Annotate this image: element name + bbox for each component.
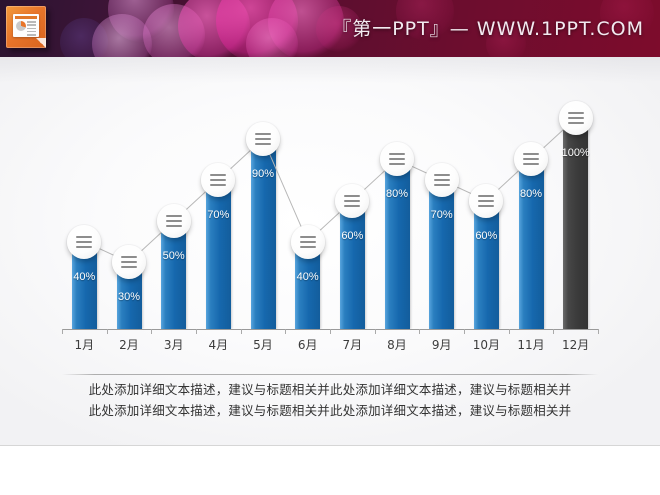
- x-label-9月: 9月: [419, 336, 465, 353]
- slide-body: 40%30%50%70%90%40%60%80%70%60%80%100% 1月…: [0, 57, 660, 445]
- trend-connector-line: [62, 113, 598, 329]
- hamburger-menu-icon: [568, 112, 584, 127]
- slide: 『第一PPT』— WWW.1PPT.COM 40%30%50%70%90%40%…: [0, 0, 660, 495]
- hamburger-menu-icon: [434, 174, 450, 189]
- header-title: 『第一PPT』— WWW.1PPT.COM: [332, 14, 644, 41]
- x-label-11月: 11月: [508, 336, 554, 353]
- footer: 第一PPT HTTP://WWW.1PPT.COM: [0, 445, 660, 495]
- x-label-5月: 5月: [240, 336, 286, 353]
- marker-hamburger-menu-icon[interactable]: [67, 225, 101, 259]
- chart-plot-area: 40%30%50%70%90%40%60%80%70%60%80%100%: [62, 113, 598, 329]
- hamburger-menu-icon: [478, 195, 494, 210]
- x-label-6月: 6月: [285, 336, 331, 353]
- x-axis-ticks: [62, 329, 599, 334]
- x-label-8月: 8月: [374, 336, 420, 353]
- description-block: 此处添加详细文本描述，建议与标题相关并此处添加详细文本描述，建议与标题相关并 此…: [62, 381, 598, 423]
- hamburger-menu-icon: [76, 236, 92, 251]
- x-label-3月: 3月: [151, 336, 197, 353]
- x-axis-labels: 1月2月3月4月5月6月7月8月9月10月11月12月: [62, 336, 599, 356]
- header-banner: 『第一PPT』— WWW.1PPT.COM: [0, 0, 660, 57]
- marker-hamburger-menu-icon[interactable]: [559, 101, 593, 135]
- divider-line: [62, 374, 598, 375]
- marker-hamburger-menu-icon[interactable]: [335, 184, 369, 218]
- x-label-4月: 4月: [195, 336, 241, 353]
- hamburger-menu-icon: [523, 153, 539, 168]
- description-line-2: 此处添加详细文本描述，建议与标题相关并此处添加详细文本描述，建议与标题相关并: [62, 402, 598, 420]
- marker-hamburger-menu-icon[interactable]: [425, 163, 459, 197]
- x-label-12月: 12月: [553, 336, 599, 353]
- powerpoint-logo-icon: [6, 6, 50, 52]
- x-label-10月: 10月: [463, 336, 509, 353]
- footer-divider: [0, 445, 660, 446]
- hamburger-menu-icon: [121, 256, 137, 271]
- hamburger-menu-icon: [255, 133, 271, 148]
- hamburger-menu-icon: [389, 153, 405, 168]
- marker-hamburger-menu-icon[interactable]: [291, 225, 325, 259]
- description-line-1: 此处添加详细文本描述，建议与标题相关并此处添加详细文本描述，建议与标题相关并: [62, 381, 598, 399]
- marker-hamburger-menu-icon[interactable]: [469, 184, 503, 218]
- hamburger-menu-icon: [344, 195, 360, 210]
- x-label-7月: 7月: [329, 336, 375, 353]
- x-label-2月: 2月: [106, 336, 152, 353]
- hamburger-menu-icon: [300, 236, 316, 251]
- marker-hamburger-menu-icon[interactable]: [246, 122, 280, 156]
- x-label-1月: 1月: [61, 336, 107, 353]
- hamburger-menu-icon: [210, 174, 226, 189]
- hamburger-menu-icon: [166, 215, 182, 230]
- marker-hamburger-menu-icon[interactable]: [157, 204, 191, 238]
